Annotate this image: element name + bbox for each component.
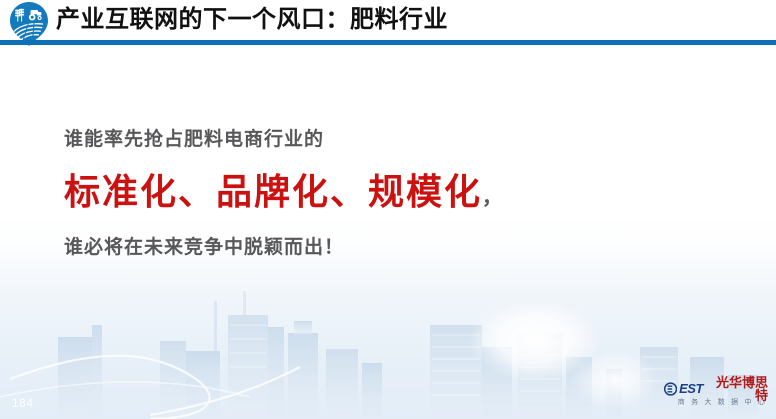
emphasis-line-text: 标准化、品牌化、规模化 <box>64 171 482 212</box>
emphasis-line-comma: ， <box>482 187 502 209</box>
conclusion-line: 谁必将在未来竞争中脱颖而出！ <box>64 234 664 262</box>
best-circle-b-icon <box>664 382 677 396</box>
page-number: 184 <box>12 396 34 410</box>
slide-header: 产业互联网的下一个风口：肥料行业 <box>0 0 776 46</box>
slide-canvas: 产业互联网的下一个风口：肥料行业 谁能率先抢占肥料电商行业的 标准化、品牌化、规… <box>0 0 776 419</box>
header-divider-bar <box>0 40 776 45</box>
page-title: 产业互联网的下一个风口：肥料行业 <box>56 4 448 36</box>
brand-wordmark: EST <box>679 382 703 395</box>
brand-subtitle: 商 务 大 数 据 中 心 <box>664 398 768 407</box>
emphasis-line: 标准化、品牌化、规模化， <box>64 170 664 220</box>
body-text-block: 谁能率先抢占肥料电商行业的 标准化、品牌化、规模化， 谁必将在未来竞争中脱颖而出… <box>64 126 664 262</box>
brand-lockup: EST 光华博思特 商 务 大 数 据 中 心 <box>664 381 768 413</box>
brand-wordmark-row: EST 光华博思特 <box>664 381 768 396</box>
lead-in-line: 谁能率先抢占肥料电商行业的 <box>64 126 664 154</box>
